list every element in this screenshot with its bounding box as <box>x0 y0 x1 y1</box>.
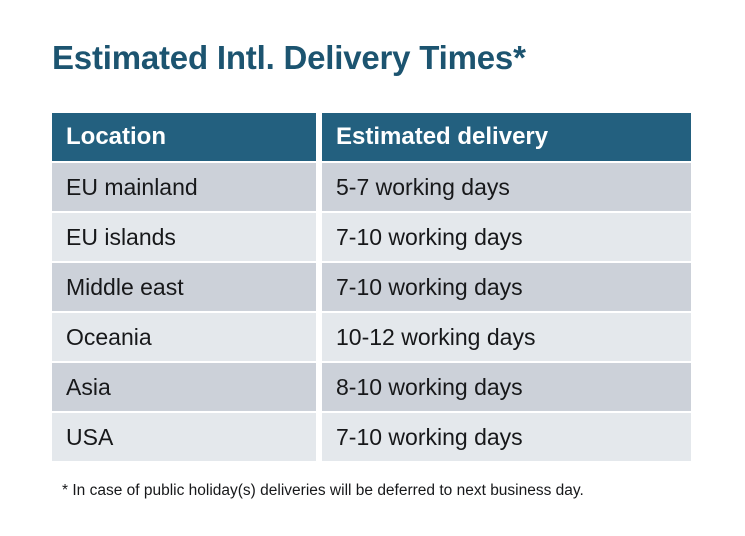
table-row: Middle east 7-10 working days <box>52 263 691 311</box>
table-row: EU islands 7-10 working days <box>52 213 691 261</box>
table-row: Asia 8-10 working days <box>52 363 691 411</box>
table-row: Oceania 10-12 working days <box>52 313 691 361</box>
cell-delivery: 5-7 working days <box>322 163 691 211</box>
cell-location: Asia <box>52 363 316 411</box>
cell-delivery: 7-10 working days <box>322 213 691 261</box>
cell-delivery: 7-10 working days <box>322 263 691 311</box>
cell-location: Oceania <box>52 313 316 361</box>
cell-delivery: 10-12 working days <box>322 313 691 361</box>
column-header-estimated-delivery: Estimated delivery <box>322 113 691 161</box>
table-row: USA 7-10 working days <box>52 413 691 461</box>
column-header-location: Location <box>52 113 316 161</box>
cell-location: EU mainland <box>52 163 316 211</box>
cell-delivery: 7-10 working days <box>322 413 691 461</box>
table-row: EU mainland 5-7 working days <box>52 163 691 211</box>
cell-delivery: 8-10 working days <box>322 363 691 411</box>
cell-location: EU islands <box>52 213 316 261</box>
cell-location: Middle east <box>52 263 316 311</box>
delivery-times-card: Estimated Intl. Delivery Times* Location… <box>0 0 745 536</box>
cell-location: USA <box>52 413 316 461</box>
footnote-text: * In case of public holiday(s) deliverie… <box>62 480 584 502</box>
page-title: Estimated Intl. Delivery Times* <box>52 36 526 80</box>
table-header-row: Location Estimated delivery <box>52 113 691 161</box>
delivery-times-table: Location Estimated delivery EU mainland … <box>52 113 691 461</box>
